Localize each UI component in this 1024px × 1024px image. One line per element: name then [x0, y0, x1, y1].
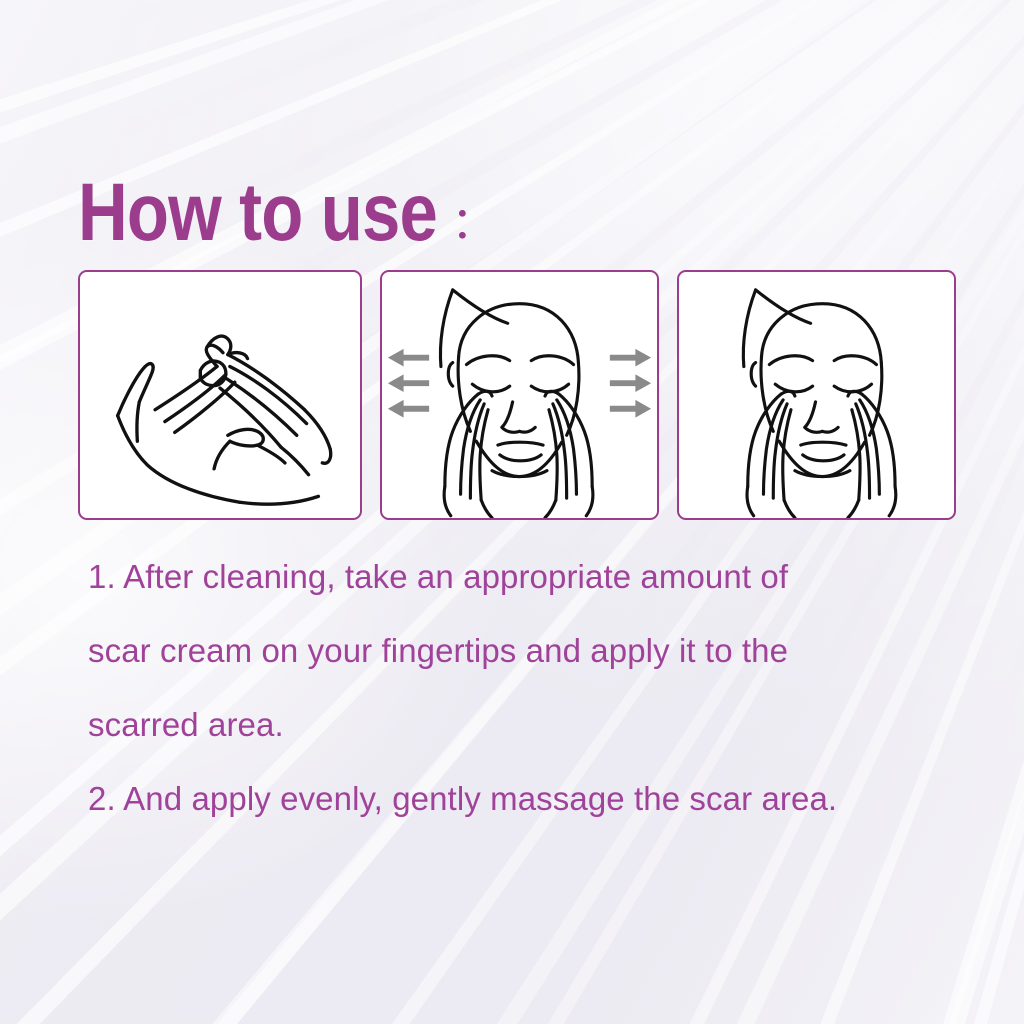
instructions-list: 1. After cleaning, take an appropriate a…	[88, 540, 988, 836]
step-panel-3	[677, 270, 956, 520]
face-massage-icon	[679, 272, 954, 518]
face-line-art	[440, 290, 578, 477]
face-massage-outward-arrows-icon	[382, 272, 657, 518]
page-title-colon: ：	[451, 202, 495, 246]
instruction-line-3: scarred area.	[88, 688, 988, 762]
arrow-right-group	[610, 349, 651, 418]
arrow-left-group	[388, 349, 429, 418]
page-title-text: How to use	[78, 172, 437, 254]
instruction-line-4: 2. And apply evenly, gently massage the …	[88, 762, 988, 836]
step-panel-group	[78, 270, 956, 520]
instruction-line-1: 1. After cleaning, take an appropriate a…	[88, 540, 988, 614]
instruction-line-2: scar cream on your fingertips and apply …	[88, 614, 988, 688]
hands-on-cheeks	[444, 391, 593, 517]
two-hands-fingertips-together-icon	[80, 272, 360, 518]
page-title: How to use ：	[78, 172, 495, 254]
how-to-use-infographic: How to use ：	[0, 0, 1024, 1024]
hands-on-cheeks	[747, 391, 896, 517]
face-line-art	[743, 290, 881, 477]
step-panel-2	[380, 270, 659, 520]
step-panel-1	[78, 270, 362, 520]
